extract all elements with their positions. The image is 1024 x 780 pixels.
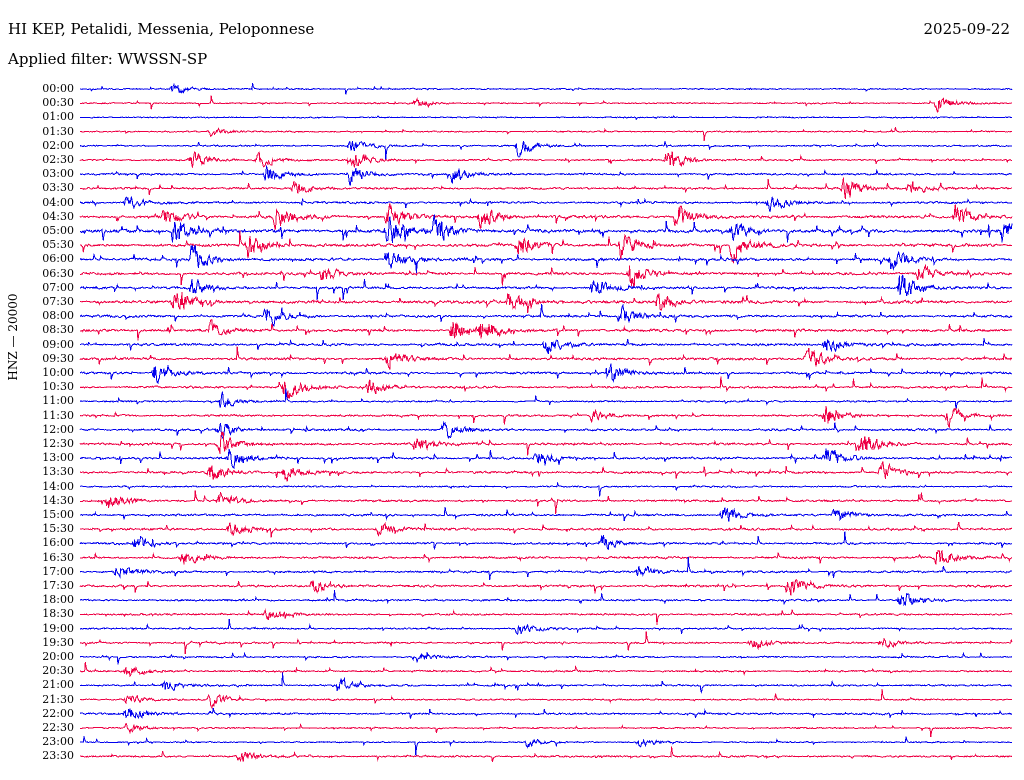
seismogram-traces (0, 80, 1024, 780)
trace-line (80, 203, 1012, 229)
trace-line (80, 662, 1012, 676)
helicorder-page: HI KEP, Petalidi, Messenia, Peloponnese … (0, 0, 1024, 780)
trace-line (80, 522, 1012, 537)
trace-line (80, 96, 1012, 112)
trace-line (80, 491, 1012, 514)
applied-filter-label: Applied filter: WWSSN-SP (8, 50, 207, 68)
helicorder-plot: 00:0000:3001:0001:3002:0002:3003:0003:30… (0, 80, 1024, 780)
trace-line (80, 724, 1012, 738)
trace-line (80, 432, 1012, 455)
trace-line (80, 551, 1012, 565)
trace-line (80, 292, 1012, 313)
trace-line (80, 320, 1012, 341)
trace-line (80, 197, 1012, 211)
trace-line (80, 461, 1012, 481)
trace-line (80, 178, 1012, 199)
trace-line (80, 83, 1012, 94)
record-date: 2025-09-22 (924, 20, 1010, 38)
trace-line (80, 631, 1012, 654)
trace-line (80, 116, 1012, 119)
trace-line (80, 673, 1012, 693)
trace-line (80, 304, 1012, 326)
page-title: HI KEP, Petalidi, Messenia, Peloponnese (8, 20, 314, 38)
trace-line (80, 580, 1012, 595)
trace-line (80, 652, 1012, 665)
trace-line (80, 275, 1012, 300)
trace-line (80, 338, 1012, 354)
trace-line (80, 215, 1012, 243)
trace-line (80, 610, 1012, 625)
trace-line (80, 619, 1012, 634)
trace-line (80, 532, 1012, 550)
trace-line (80, 127, 1012, 141)
seismogram-svg (0, 80, 1024, 780)
trace-line (80, 689, 1012, 708)
trace-line (80, 422, 1012, 438)
trace-line (80, 377, 1012, 400)
trace-line (80, 167, 1012, 185)
trace-line (80, 746, 1012, 761)
trace-line (80, 507, 1012, 522)
trace-line (80, 265, 1012, 286)
trace-line (80, 141, 1012, 160)
trace-line (80, 388, 1012, 409)
trace-line (80, 152, 1012, 168)
trace-line (80, 557, 1012, 580)
trace-line (80, 590, 1012, 605)
trace-line (80, 736, 1012, 755)
trace-line (80, 245, 1012, 273)
trace-line (80, 708, 1012, 719)
trace-line (80, 364, 1012, 383)
